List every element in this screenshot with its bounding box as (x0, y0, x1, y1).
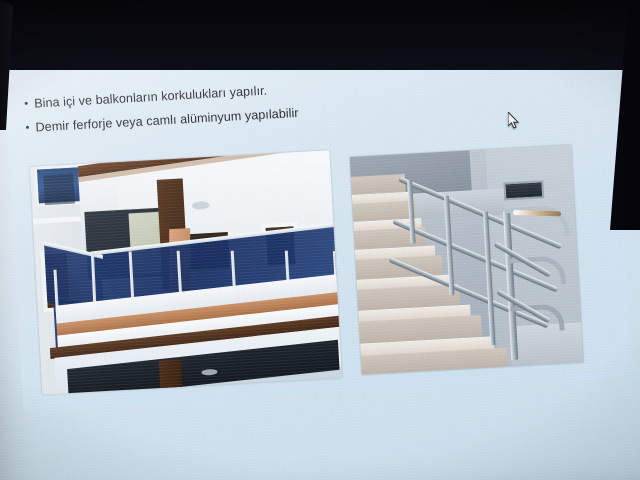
bullet-list: • Bina içi ve balkonların korkulukları y… (18, 71, 450, 143)
photographed-projection-scene: 34-BALKON VE BİNA KORKULUKLARI • Bina iç… (0, 0, 640, 480)
projection-screen: 34-BALKON VE BİNA KORKULUKLARI • Bina iç… (0, 0, 640, 480)
bullet-point-icon: • (18, 95, 35, 115)
wall-panel (503, 180, 544, 200)
bullet-point-icon: • (19, 119, 36, 139)
balcony-glass-railing-photo (30, 150, 342, 394)
mouse-cursor-icon (508, 112, 520, 130)
stairwell-steel-railing-photo (350, 145, 584, 375)
room-ceiling-dark (0, 0, 640, 70)
